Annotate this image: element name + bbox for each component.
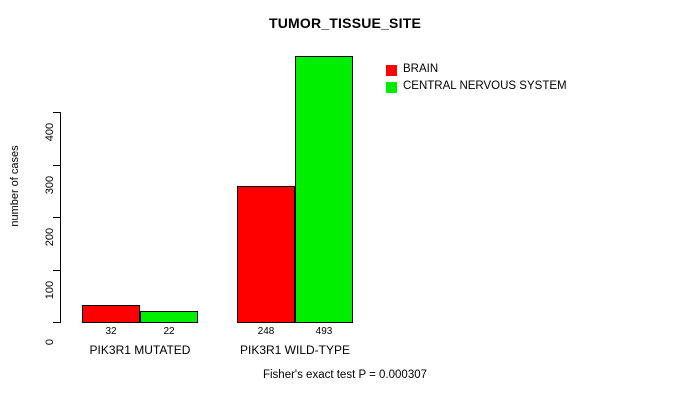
- y-tick-label-100-wrap: 100: [10, 264, 50, 276]
- bar-chart-figure: TUMOR_TISSUE_SITE number of cases 0 100 …: [0, 0, 690, 400]
- legend-swatch-cns-icon: [386, 82, 397, 93]
- group-label-wildtype: PIK3R1 WILD-TYPE: [215, 343, 375, 357]
- group-label-mutated: PIK3R1 MUTATED: [60, 343, 220, 357]
- y-axis-line: [60, 112, 61, 323]
- bar-wildtype-cns[interactable]: [295, 56, 353, 323]
- plot-area: 0 100 200 300 400 32 22 PIK3R1 MUTATED 2…: [0, 0, 690, 400]
- legend-item-cns[interactable]: CENTRAL NERVOUS SYSTEM: [386, 79, 567, 95]
- y-tick-label-200-wrap: 200: [10, 211, 50, 223]
- bar-value-wildtype-brain: 248: [237, 326, 295, 337]
- legend-swatch-brain-icon: [386, 65, 397, 76]
- y-tick-label-0-wrap: 0: [10, 316, 50, 328]
- statistical-test-annotation: Fisher's exact test P = 0.000307: [0, 369, 690, 381]
- group-2-baseline: [237, 322, 353, 323]
- group-1-baseline: [82, 322, 198, 323]
- bar-value-wildtype-cns: 493: [295, 326, 353, 337]
- bar-value-mutated-cns: 22: [140, 326, 198, 337]
- y-tick-label-400-wrap: 400: [10, 106, 50, 118]
- y-tick-label-100: 100: [44, 270, 56, 310]
- y-tick-label-0: 0: [44, 322, 56, 362]
- y-tick-label-300: 300: [44, 165, 56, 205]
- y-tick-label-200: 200: [44, 217, 56, 257]
- bar-wildtype-brain[interactable]: [237, 186, 295, 323]
- legend-label-brain: BRAIN: [403, 64, 438, 76]
- y-tick-label-300-wrap: 300: [10, 159, 50, 171]
- legend-label-cns: CENTRAL NERVOUS SYSTEM: [403, 81, 567, 93]
- y-tick-label-400: 400: [44, 112, 56, 152]
- bar-value-mutated-brain: 32: [82, 326, 140, 337]
- legend-item-brain[interactable]: BRAIN: [386, 62, 567, 78]
- legend: BRAIN CENTRAL NERVOUS SYSTEM: [386, 62, 567, 96]
- bar-mutated-brain[interactable]: [82, 305, 140, 323]
